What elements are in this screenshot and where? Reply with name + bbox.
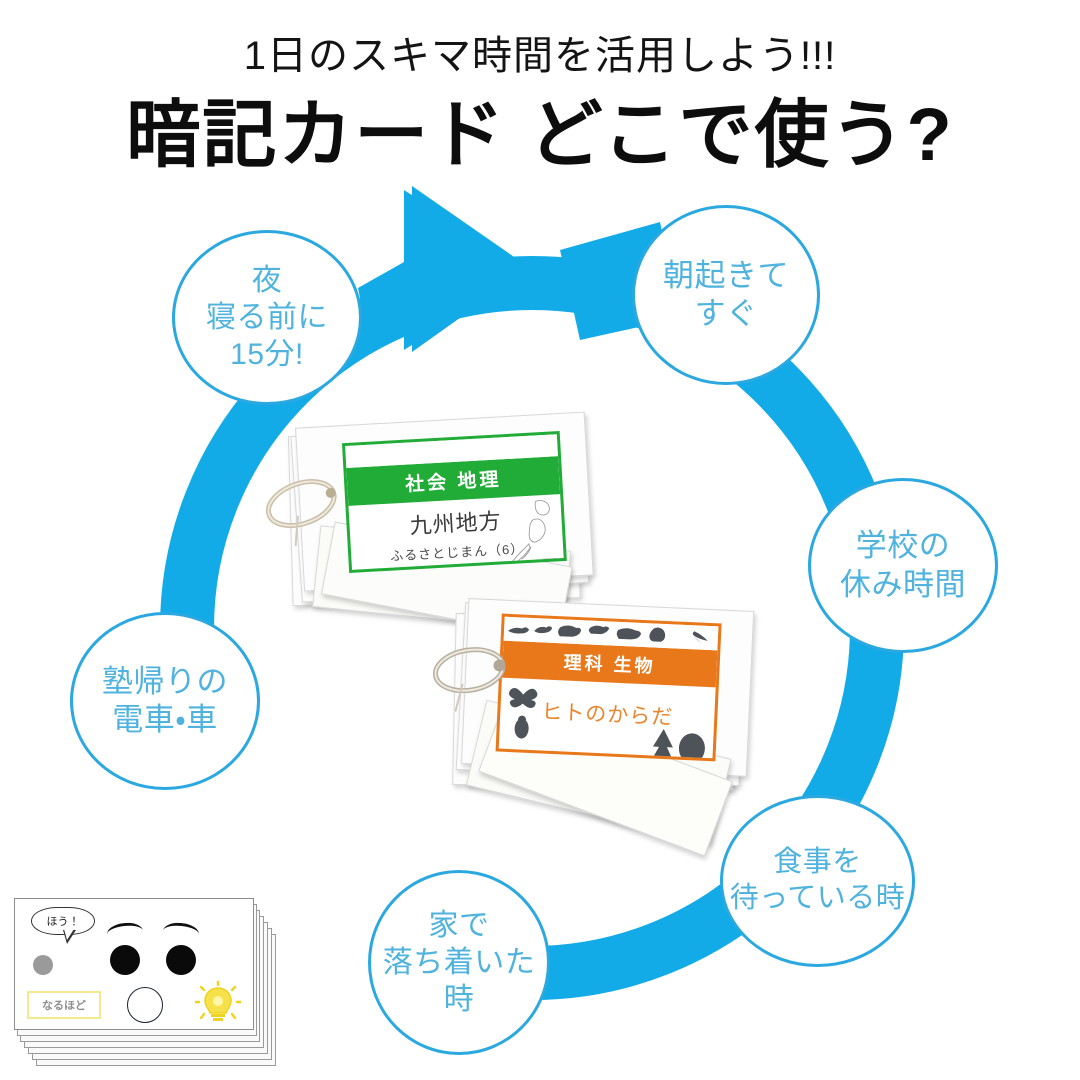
eye-right-icon [166, 945, 196, 975]
poster-canvas: 1日のスキマ時間を活用しよう!!! 暗記カード どこで使う? 夜 寝る前に 15… [0, 0, 1080, 1080]
mouth-icon [127, 987, 163, 1023]
cycle-bubble-meal[interactable]: 食事を 待っている時 [720, 795, 915, 967]
japan-map-icon [502, 496, 558, 573]
gray-dot-marker [33, 955, 53, 975]
cycle-bubble-train-label: 塾帰りの 電車・車 [102, 663, 228, 740]
cycle-bubble-meal-label: 食事を 待っている時 [730, 845, 906, 917]
binder-ring-icon [255, 465, 349, 550]
reaction-card-front: ほう！ なるほど [14, 898, 254, 1030]
cycle-bubble-train[interactable]: 塾帰りの 電車・車 [70, 612, 260, 790]
flashcard-group-social[interactable]: 社会 地理 九州地方 ふるさとじまん（6） 4年下 第7回 [277, 409, 597, 616]
eye-left-icon [110, 945, 140, 975]
cycle-bubble-home[interactable]: 家で 落ち着いた 時 [368, 870, 550, 1055]
eyebrow-right-icon [162, 921, 200, 944]
naruhodo-text: なるほど [42, 997, 86, 1013]
binder-ring-icon [421, 630, 517, 716]
lightbulb-icon [195, 981, 241, 1025]
cycle-bubble-school[interactable]: 学校の 休み時間 [808, 478, 998, 653]
reaction-card-stack[interactable]: ほう！ なるほど [14, 898, 276, 1068]
cycle-bubble-night-label: 夜 寝る前に 15分! [206, 262, 328, 374]
speech-bubble-tail [63, 930, 76, 944]
cycle-bubble-morning-label: 朝起きて すぐ [663, 257, 789, 334]
cycle-bubble-night[interactable]: 夜 寝る前に 15分! [172, 230, 362, 405]
cycle-bubble-home-label: 家で 落ち着いた 時 [383, 907, 536, 1019]
flashcard-group-science[interactable]: 理科 生物 [444, 593, 753, 806]
tree-silhouettes-icon [644, 724, 708, 761]
flashcard-body-science: ヒトのからだ 4年下 第1回 [498, 678, 716, 762]
flashcard-face-social: 社会 地理 九州地方 ふるさとじまん（6） 4年下 第7回 [342, 431, 567, 573]
speech-bubble-text: ほう！ [47, 913, 80, 929]
flashcard-body-social: 九州地方 ふるさとじまん（6） 4年下 第7回 [348, 494, 565, 573]
eyebrow-left-icon [106, 921, 144, 944]
cycle-bubble-school-label: 学校の 休み時間 [840, 527, 966, 604]
cycle-bubble-morning[interactable]: 朝起きて すぐ [632, 205, 820, 385]
flashcard-face-science: 理科 生物 [496, 614, 722, 762]
naruhodo-label: なるほど [27, 991, 101, 1019]
